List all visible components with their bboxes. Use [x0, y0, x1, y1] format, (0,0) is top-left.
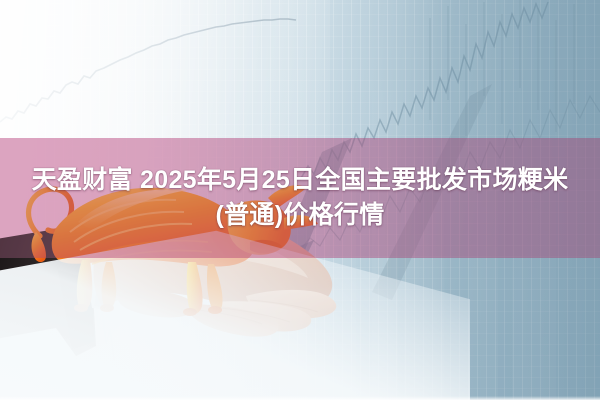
banner-title-line-1: 天盈财富 2025年5月25日全国主要批发市场粳米 [32, 164, 569, 197]
bottom-edge-highlight [0, 396, 600, 400]
image-canvas: 天盈财富 2025年5月25日全国主要批发市场粳米 (普通)价格行情 [0, 0, 600, 400]
banner-title: 天盈财富 2025年5月25日全国主要批发市场粳米 (普通)价格行情 [0, 138, 600, 258]
banner-title-line-2: (普通)价格行情 [215, 199, 384, 232]
